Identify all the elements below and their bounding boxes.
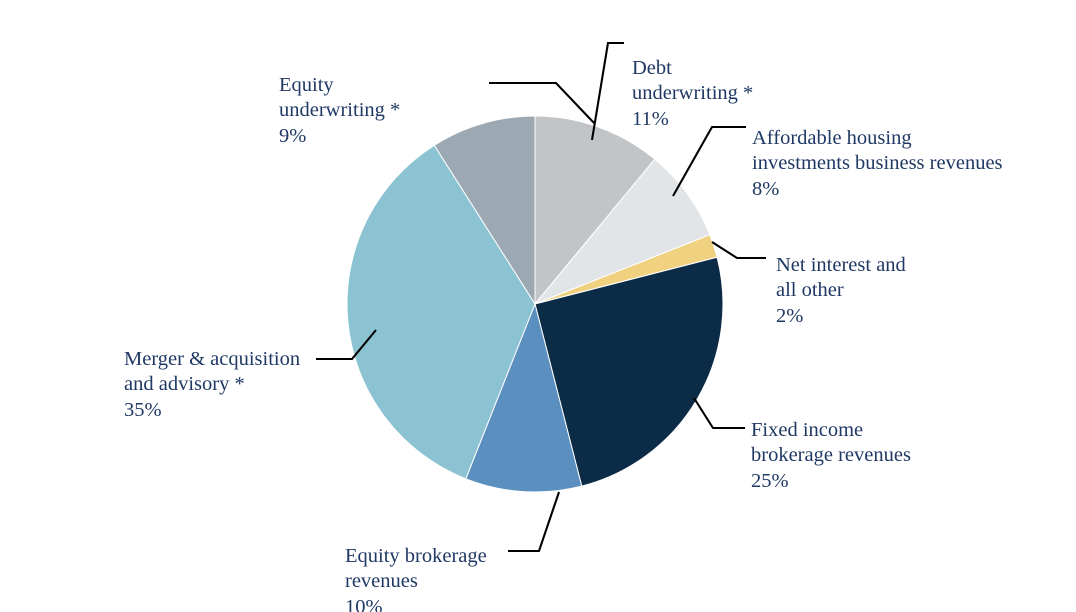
- slice-label-percent: 25%: [751, 469, 966, 495]
- slice-label-equity-underwriting: Equity underwriting * 9%: [279, 47, 489, 175]
- slice-label-text: Equity brokerage revenues: [345, 545, 487, 593]
- slice-label-fixed-income-brokerage: Fixed income brokerage revenues 25%: [751, 392, 966, 520]
- slice-label-percent: 9%: [279, 124, 489, 150]
- slice-label-affordable-housing: Affordable housing investments business …: [752, 100, 1027, 228]
- slice-label-percent: 10%: [345, 595, 555, 612]
- leader-line-net-interest: [712, 242, 766, 258]
- slice-label-net-interest-and-all-other: Net interest and all other 2%: [776, 227, 956, 355]
- slice-label-equity-brokerage: Equity brokerage revenues 10%: [345, 518, 555, 612]
- slice-label-text: Merger & acquisition and advisory *: [124, 348, 300, 396]
- slice-label-percent: 35%: [124, 398, 339, 424]
- slice-label-text: Affordable housing investments business …: [752, 127, 1003, 175]
- slice-label-merger-acquisition-advisory: Merger & acquisition and advisory * 35%: [124, 321, 339, 449]
- slice-label-text: Debt underwriting *: [632, 57, 753, 105]
- pie-chart-page: Equity underwriting * 9% Debt underwriti…: [0, 0, 1076, 612]
- slice-label-text: Fixed income brokerage revenues: [751, 419, 911, 467]
- slice-label-text: Equity underwriting *: [279, 74, 400, 122]
- leader-line-debt-underwriting: [592, 43, 624, 140]
- slice-label-text: Net interest and all other: [776, 254, 906, 302]
- slice-label-percent: 2%: [776, 304, 956, 330]
- leader-line-fixed-income: [694, 398, 745, 428]
- slice-label-percent: 8%: [752, 177, 1027, 203]
